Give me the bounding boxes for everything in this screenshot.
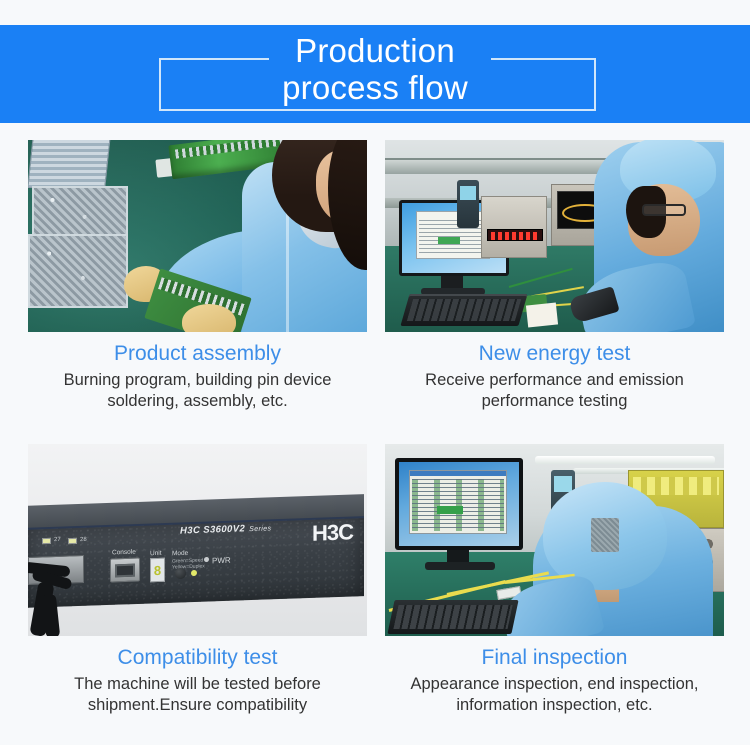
card-title: New energy test	[479, 341, 631, 367]
ceiling-light-1	[535, 456, 715, 464]
process-step-card-new-energy-test: New energy test Receive performance and …	[385, 140, 724, 434]
photo-new-energy-test	[385, 140, 724, 332]
mode-button[interactable]	[175, 567, 186, 578]
mode-led	[191, 569, 197, 575]
card-title: Final inspection	[482, 645, 628, 671]
page-title: Production process flow	[0, 25, 750, 106]
process-step-card-compatibility-test: H3C S3600V2Series H3C 27 28 Console Unit…	[28, 444, 367, 738]
power-led	[204, 556, 209, 561]
monitor-stand-base	[425, 562, 495, 570]
metal-pin-tray-upper	[32, 186, 128, 238]
engineer-glasses	[642, 204, 686, 216]
process-step-card-final-inspection: Final inspection Appearance inspection, …	[385, 444, 724, 738]
console-rj45-port	[110, 557, 140, 582]
component-tray-stack	[28, 140, 111, 188]
port-number-28: 28	[80, 536, 87, 542]
card-title: Compatibility test	[118, 645, 278, 671]
h3c-brand-logo: H3C	[312, 519, 353, 546]
unit-label: Unit	[150, 549, 162, 556]
keyboard	[387, 600, 518, 634]
process-step-card-product-assembly: Product assembly Burning program, buildi…	[28, 140, 367, 434]
card-title: Product assembly	[114, 341, 281, 367]
card-description: Receive performance and emission perform…	[425, 370, 684, 412]
handheld-meter	[457, 180, 479, 228]
photo-final-inspection	[385, 444, 724, 636]
unit-seven-segment-display: 8	[150, 557, 165, 582]
card-description: Burning program, building pin device sol…	[64, 370, 332, 412]
photo-compatibility-test: H3C S3600V2Series H3C 27 28 Console Unit…	[28, 444, 367, 636]
metal-pin-tray-lower	[28, 234, 128, 308]
dc-power-supply	[481, 196, 547, 258]
card-description: Appearance inspection, end inspection, i…	[410, 674, 698, 716]
screen-status-indicator	[438, 237, 460, 244]
process-step-grid: Product assembly Burning program, buildi…	[0, 123, 750, 745]
page-banner: Production process flow	[0, 25, 750, 123]
screen-test-application	[409, 470, 507, 534]
keyboard	[400, 294, 527, 326]
screen-pass-indicator	[437, 506, 463, 514]
power-label: PWR	[212, 555, 231, 565]
console-port-label: Console	[112, 548, 136, 556]
worker-hand-right	[182, 304, 236, 332]
port-number-27: 27	[54, 536, 61, 542]
mode-label: Mode	[172, 549, 188, 557]
switch-series-text: Series	[249, 525, 271, 533]
monitor-screen	[399, 462, 519, 546]
esd-cap-mesh-patch	[591, 518, 619, 552]
inspection-monitor	[395, 458, 523, 550]
photo-product-assembly	[28, 140, 367, 332]
card-description: The machine will be tested before shipme…	[74, 674, 321, 716]
page-root: Production process flow	[0, 0, 750, 745]
switch-model-text: H3C S3600V2	[180, 523, 245, 536]
port-led-27	[42, 537, 51, 543]
port-led-28	[68, 537, 77, 543]
bench-paper-note	[526, 302, 558, 327]
power-supply-display	[487, 229, 543, 241]
